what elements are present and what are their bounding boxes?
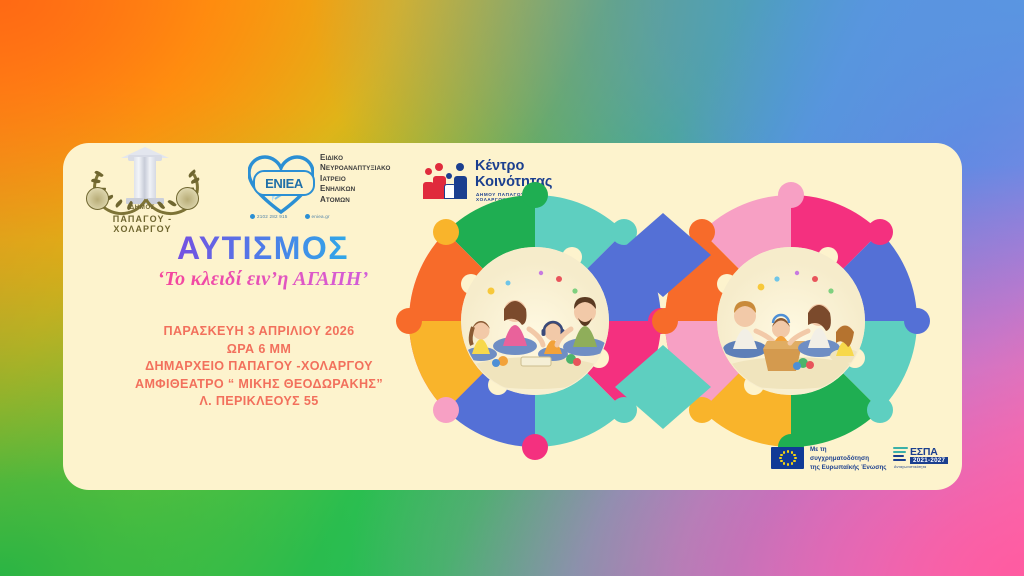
- municipality-label-line1: ΔΗΜΟΣ: [85, 205, 200, 211]
- poster-card: ΔΗΜΟΣ ΠΑΠΑΓΟΥ - ΧΟΛΑΡΓΟΥ ΕΝΙΕΑ ΕΙΔΙΚΟ ΝΕ…: [63, 143, 962, 490]
- funding-text-line2: της Ευρωπαϊκής Ένωσης: [810, 463, 887, 472]
- globe-icon: [305, 214, 310, 219]
- right-loop-ring: [639, 169, 943, 473]
- autism-infinity-puzzle-illustration: [363, 151, 962, 490]
- phone-icon: [250, 214, 255, 219]
- funding-text-line1: Με τη συγχρηματοδότηση: [810, 445, 887, 463]
- eniea-phone: 2102 282 915: [250, 214, 288, 219]
- eniea-acronym: ΕΝΙΕΑ: [253, 170, 315, 196]
- european-union-flag: [771, 447, 804, 469]
- left-loop-ring: [383, 169, 687, 473]
- infinity-puzzle-svg: [363, 151, 962, 490]
- espa-logo: ΕΣΠΑ 2021-2027 Ανταγωνιστικότητα: [893, 446, 951, 471]
- espa-tagline: Ανταγωνιστικότητα: [894, 465, 926, 469]
- espa-years: 2021-2027: [910, 457, 948, 464]
- funding-footer: Με τη συγχρηματοδότηση της Ευρωπαϊκής Έν…: [771, 441, 951, 475]
- eniea-website: eniea.gr: [305, 214, 330, 219]
- dimos-papagou-cholargou-logo: ΔΗΜΟΣ ΠΑΠΑΓΟΥ - ΧΟΛΑΡΓΟΥ: [85, 155, 200, 227]
- funding-text: Με τη συγχρηματοδότηση της Ευρωπαϊκής Έν…: [810, 445, 887, 472]
- espa-mark-icon: [893, 447, 908, 464]
- poster-background: ΔΗΜΟΣ ΠΑΠΑΓΟΥ - ΧΟΛΑΡΓΟΥ ΕΝΙΕΑ ΕΙΔΙΚΟ ΝΕ…: [0, 0, 1024, 576]
